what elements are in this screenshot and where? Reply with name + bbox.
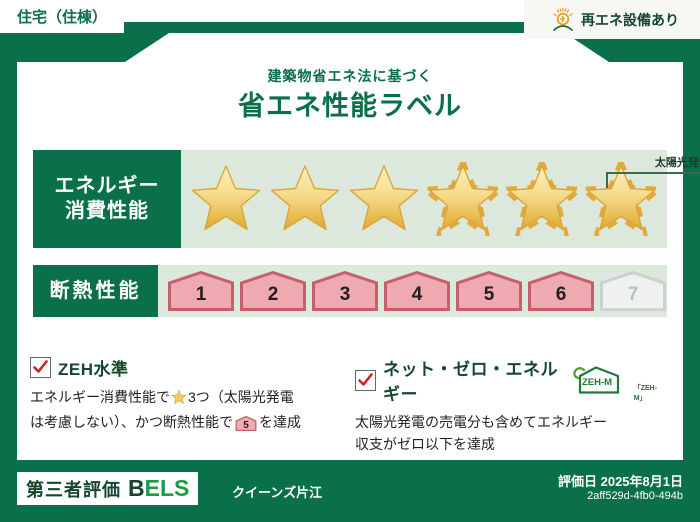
insulation-label-text: 断熱性能 (50, 279, 142, 304)
insulation-grade-7: 7 (599, 271, 667, 311)
top-white-strip (124, 0, 524, 22)
star-solid-icon (345, 162, 423, 236)
bels-certification-badge: 第三者評価 BELS (17, 472, 198, 505)
energy-performance-panel: 太陽光発電(自家消費)分 (181, 150, 667, 248)
building-type-tag-label: 住宅（住棟） (17, 6, 107, 27)
inline-star-icon (171, 389, 187, 412)
evaluation-date-label: 評価日 (558, 474, 597, 489)
solar-bracket (606, 172, 700, 188)
criteria-net-zero-header: ネット・ゼロ・エネルギー ZEH-M 「ZEH-M」 (355, 355, 665, 405)
insulation-performance-row: 断熱性能 1234567 (33, 265, 667, 317)
zeh-body-part4: を達成 (259, 414, 301, 430)
svg-text:ZEH-M: ZEH-M (582, 377, 612, 388)
insulation-grade-value: 4 (412, 284, 423, 311)
net-zero-checkbox-checked-icon (355, 370, 376, 391)
insulation-grade-value: 5 (484, 284, 495, 311)
building-name: クイーンズ片江 (232, 482, 322, 501)
solar-sun-icon (550, 7, 576, 33)
net-zero-body-line2: 収支がゼロ以下を達成 (355, 436, 495, 452)
evaluation-date: 評価日 2025年8月1日 (558, 471, 683, 490)
energy-label-root: 住宅（住棟） 再エネ設備あり 建築物省エネ法に基 (0, 0, 700, 522)
renewable-badge-label: 再エネ設備あり (581, 10, 679, 30)
insulation-grade-value: 7 (628, 284, 639, 311)
criteria-zeh-header: ZEH水準 (30, 355, 350, 380)
insulation-grade-5: 5 (455, 271, 523, 311)
zeh-body-part3: は考慮しない）、かつ断熱性能で (30, 414, 233, 430)
bels-logo-b: B (128, 475, 145, 502)
criteria-net-zero-title: ネット・ゼロ・エネルギー (383, 355, 565, 405)
insulation-grade-1: 1 (167, 271, 235, 311)
criteria-net-zero-body: 太陽光発電の売電分も含めてエネルギー 収支がゼロ以下を達成 (355, 412, 665, 455)
net-zero-body-line1: 太陽光発電の売電分も含めてエネルギー (355, 414, 607, 430)
energy-performance-row: エネルギー 消費性能 太陽光発電(自家消費)分 (33, 150, 667, 248)
star-solid-icon (266, 162, 344, 236)
criteria-zeh: ZEH水準 エネルギー消費性能で3つ（太陽光発電 は考慮しない）、かつ断熱性能で… (30, 355, 350, 433)
insulation-grade-value: 1 (196, 284, 207, 311)
third-party-eval-label: 第三者評価 (26, 476, 121, 502)
evaluation-id: 2aff529d-4fb0-494b (587, 490, 683, 502)
criteria-zeh-body: エネルギー消費性能で3つ（太陽光発電 は考慮しない）、かつ断熱性能で5を達成 (30, 387, 350, 433)
zeh-body-part1: エネルギー消費性能で (30, 389, 170, 405)
energy-star-rating (187, 162, 660, 236)
zeh-m-logo-note: 「ZEH-M」 (634, 383, 665, 403)
criteria-net-zero: ネット・ゼロ・エネルギー ZEH-M 「ZEH-M」 太陽光発電の売電分も含めて… (355, 355, 665, 455)
evaluation-date-value: 2025年8月1日 (601, 474, 683, 489)
energy-label-line2: 消費性能 (65, 199, 149, 224)
bels-logo-els: ELS (145, 475, 190, 502)
insulation-grade-3: 3 (311, 271, 379, 311)
insulation-grade-value: 6 (556, 284, 567, 311)
insulation-performance-label: 断熱性能 (33, 265, 158, 317)
insulation-grade-4: 4 (383, 271, 451, 311)
zeh-m-logo-icon: ZEH-M (570, 365, 626, 395)
criteria-zeh-title: ZEH水準 (58, 355, 129, 380)
insulation-grade-value: 2 (268, 284, 279, 311)
energy-performance-label: エネルギー 消費性能 (33, 150, 181, 248)
footer-bar: 第三者評価 BELS クイーンズ片江 評価日 2025年8月1日 2aff529… (0, 460, 700, 522)
star-solid-icon (187, 162, 265, 236)
energy-label-line1: エネルギー (55, 174, 160, 199)
insulation-grade-value: 3 (340, 284, 351, 311)
solar-bracket-label: 太陽光発電(自家消費)分 (581, 154, 700, 170)
renewable-equipment-badge: 再エネ設備あり (524, 0, 700, 39)
zeh-checkbox-checked-icon (30, 357, 51, 378)
insulation-grade-scale: 1234567 (158, 265, 667, 317)
building-type-tag: 住宅（住棟） (0, 0, 124, 33)
page-title: 省エネ性能ラベル (0, 84, 700, 123)
star-solar-dashed-icon (424, 162, 502, 236)
zeh-body-part2: 3つ（太陽光発電 (188, 389, 294, 405)
label-subtitle: 建築物省エネ法に基づく (0, 66, 700, 86)
insulation-grade-6: 6 (527, 271, 595, 311)
insulation-grade-2: 2 (239, 271, 307, 311)
star-solar-dashed-icon (503, 162, 581, 236)
inline-grade-value: 5 (235, 421, 257, 431)
inline-grade-house-icon: 5 (235, 416, 257, 431)
